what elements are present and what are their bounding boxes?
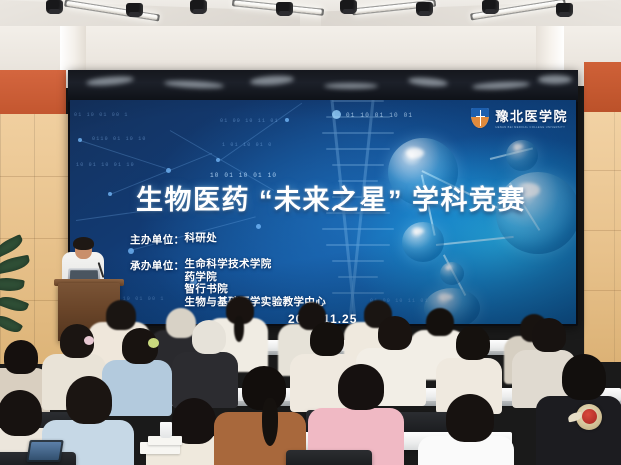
audience-area <box>0 300 621 465</box>
jacket-emblem-icon <box>576 404 602 430</box>
co-organizer-value: 药学院 <box>185 271 327 284</box>
stage-spotlight-icon <box>276 2 293 16</box>
led-presentation-screen: 01 10 01 00 1 0110 01 10 10 10 01 10 01 … <box>68 70 578 326</box>
co-organizer-value: 智行书院 <box>185 283 327 296</box>
stage-spotlight-icon <box>556 3 573 17</box>
attendee-laptop <box>26 440 63 462</box>
organizer-row: 主办单位： 科研处 <box>130 232 430 247</box>
paper-cup <box>160 422 172 438</box>
institution-name-en: HENAN BEI MEDICAL COLLEGE UNIVERSITY <box>495 126 565 129</box>
event-title: 生物医药 “未来之星” 学科竞赛 <box>136 178 556 217</box>
stage-spotlight-icon <box>46 0 63 14</box>
stage-spotlight-icon <box>416 2 433 16</box>
wall-accent-band-right <box>584 62 621 114</box>
lecture-hall-photo: 01 10 01 00 1 0110 01 10 10 10 01 10 01 … <box>0 0 621 465</box>
stage-spotlight-icon <box>126 3 143 17</box>
organizer-value: 科研处 <box>185 232 218 245</box>
organizer-block: 主办单位： 科研处 承办单位： 生命科学技术学院 药学院 智行书院 生物与基础医… <box>130 232 430 310</box>
stage-spotlight-icon <box>340 0 357 14</box>
institution-logo: 豫北医学院 HENAN BEI MEDICAL COLLEGE UNIVERSI… <box>470 106 568 129</box>
co-organizer-label: 承办单位： <box>130 258 185 273</box>
chair <box>286 450 372 465</box>
screen-content: 01 10 01 00 1 0110 01 10 10 10 01 10 01 … <box>70 100 576 324</box>
wall-accent-band-left <box>0 70 66 115</box>
screen-top-reflection <box>68 70 578 102</box>
co-organizer-value: 生命科学技术学院 <box>185 258 327 271</box>
stage-spotlight-icon <box>482 0 499 14</box>
shield-crest-icon <box>470 107 490 129</box>
institution-name-cn: 豫北医学院 <box>495 106 568 125</box>
stage-spotlight-icon <box>190 0 207 14</box>
speaker-hair <box>73 237 94 250</box>
organizer-label: 主办单位： <box>130 232 185 247</box>
